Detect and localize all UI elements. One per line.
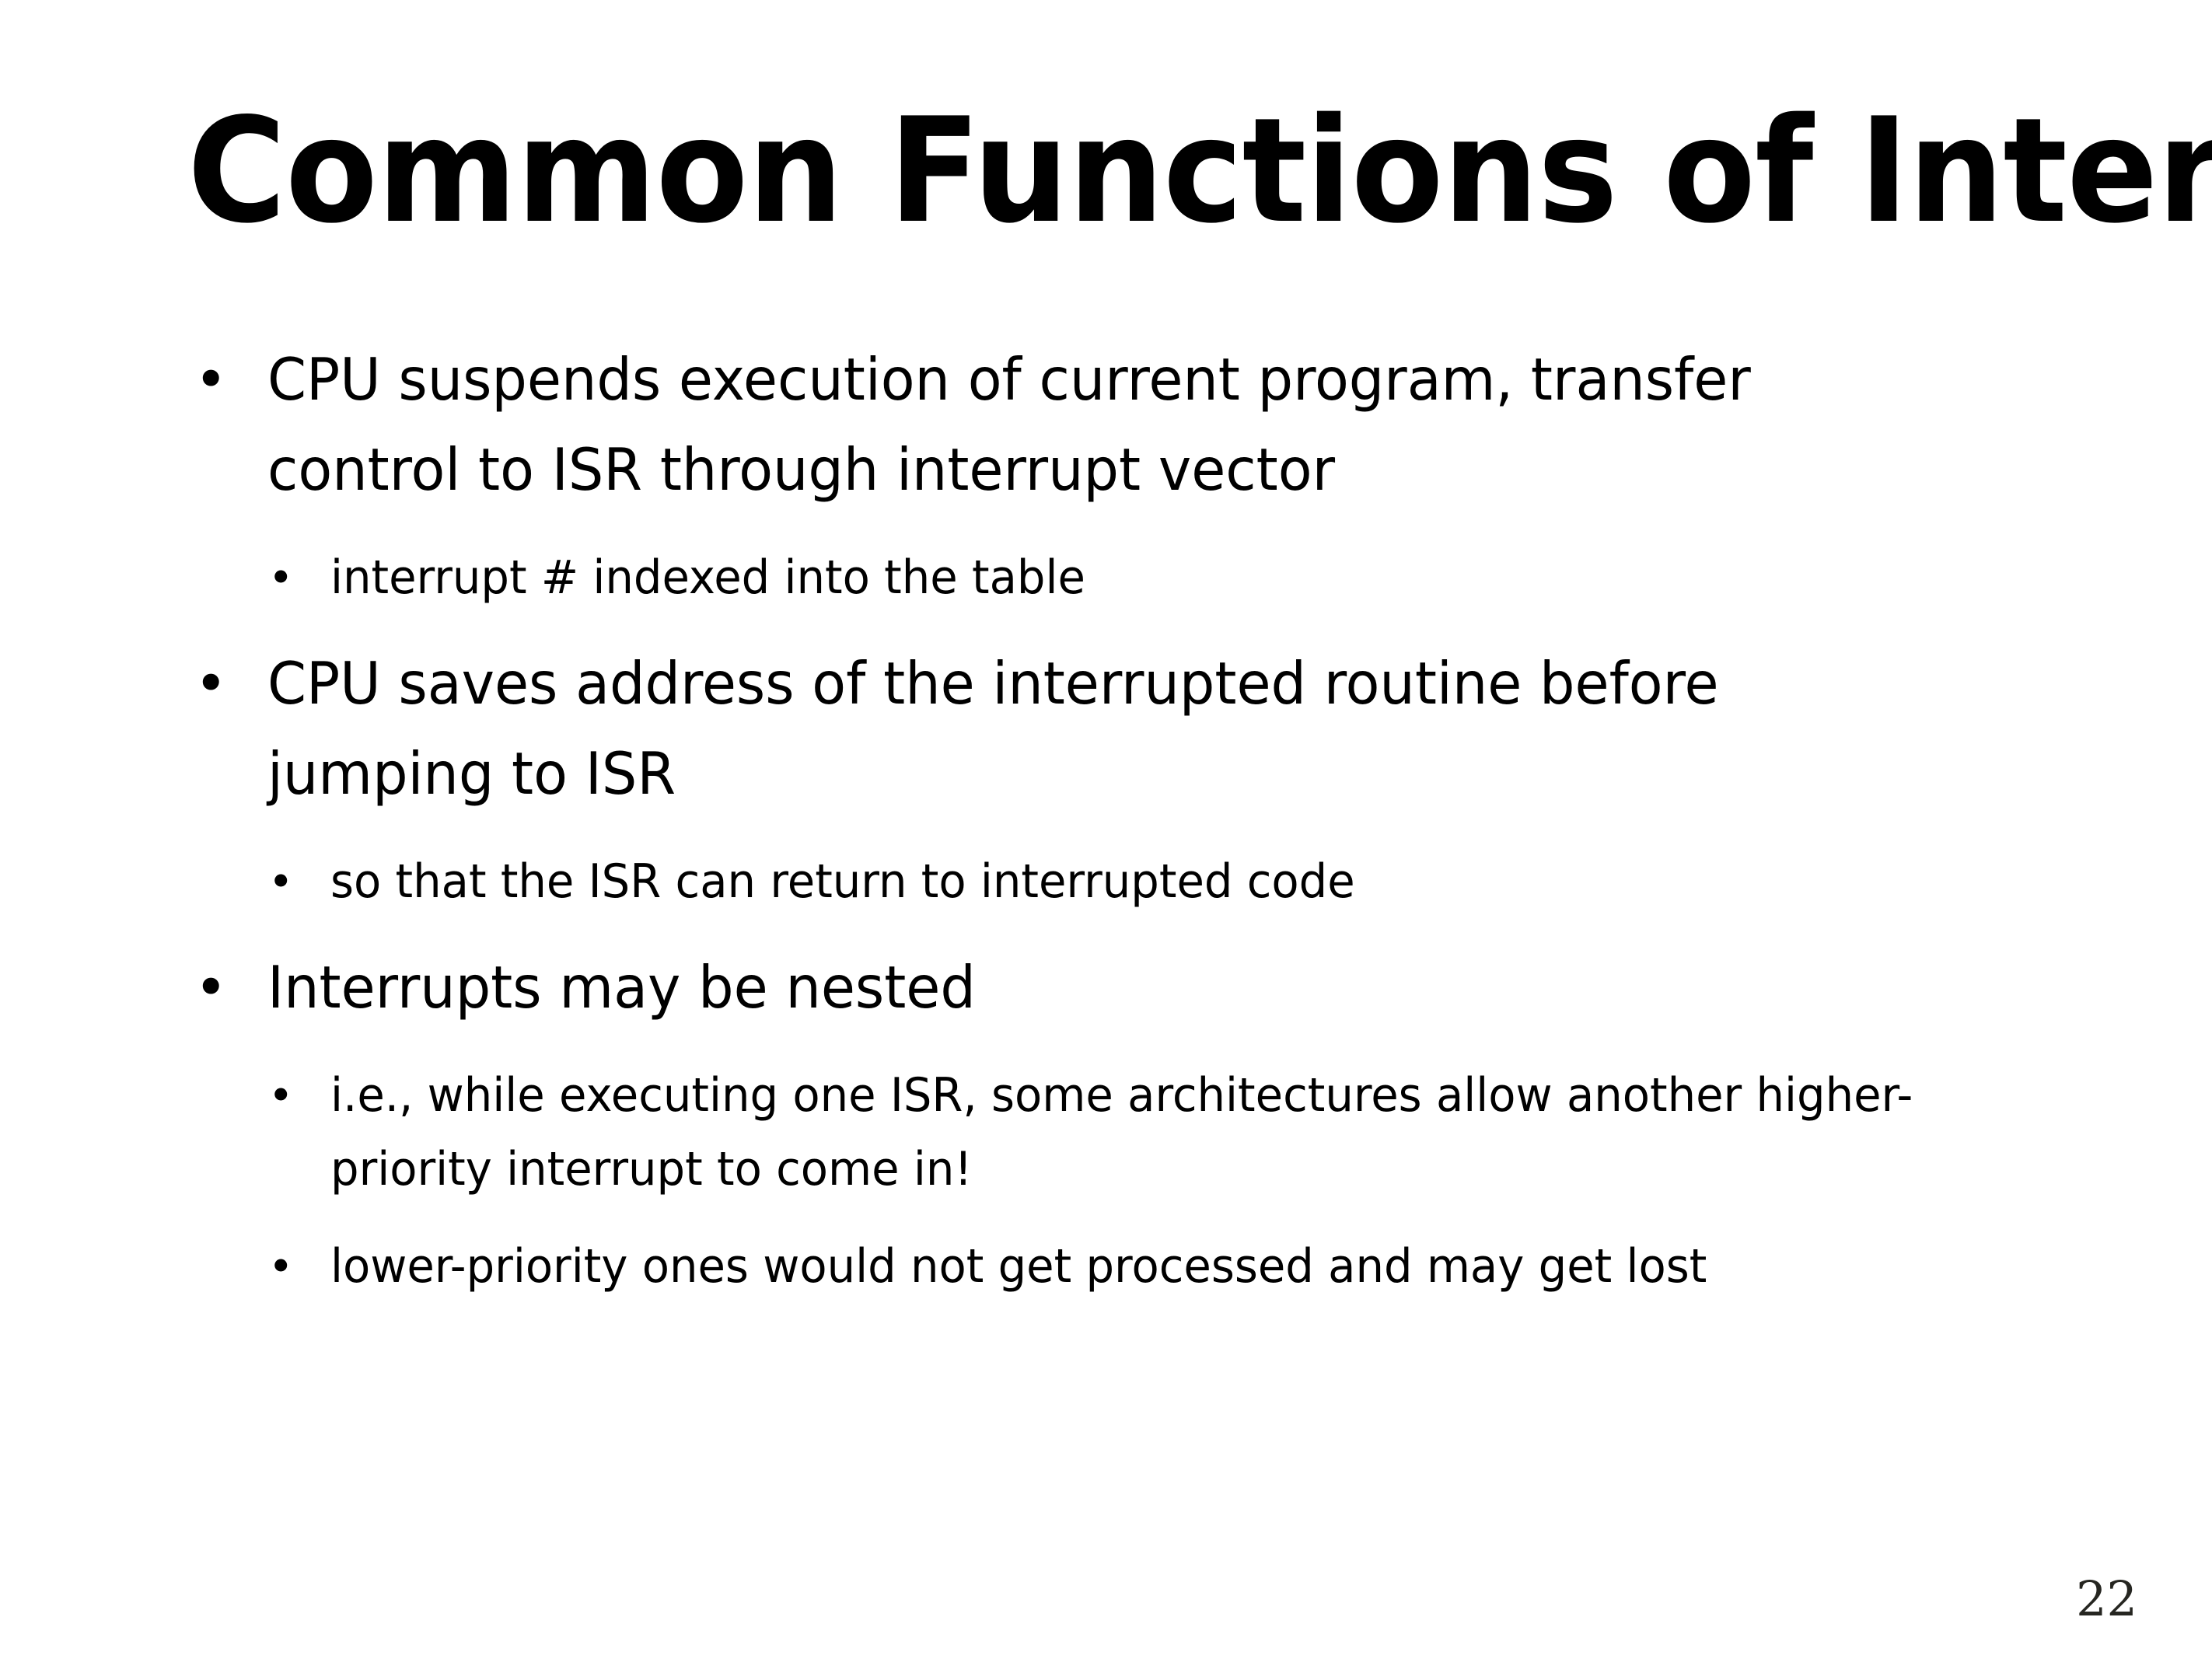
bullet-item-level1: • Interrupts may be nested <box>0 942 2212 1032</box>
bullet-item-label: interrupt # indexed into the table <box>330 541 2025 615</box>
bullet-item-level2: • so that the ISR can return to interrup… <box>0 845 2212 919</box>
bullet-item-label: so that the ISR can return to interrupte… <box>330 845 2025 919</box>
bullet-item-label: lower-priority ones would not get proces… <box>330 1230 2025 1304</box>
bullet-item-label: CPU saves address of the interrupted rou… <box>267 638 1953 819</box>
bullet-point-icon: • <box>268 1230 330 1304</box>
bullet-item-level2: • i.e., while executing one ISR, some ar… <box>0 1059 2212 1207</box>
bullet-item-level2: • lower-priority ones would not get proc… <box>0 1230 2212 1304</box>
bullet-item-label: i.e., while executing one ISR, some arch… <box>330 1059 2025 1207</box>
slide-page-number: 22 <box>2076 1572 2137 1626</box>
bullet-item-level1: • CPU suspends execution of current prog… <box>0 334 2212 515</box>
bullet-item-label: Interrupts may be nested <box>267 942 1953 1032</box>
bullet-item-level2: • interrupt # indexed into the table <box>0 541 2212 615</box>
bullet-item-label: CPU suspends execution of current progra… <box>267 334 1953 515</box>
bullet-point-icon: • <box>194 638 267 728</box>
bullet-point-icon: • <box>268 1059 330 1133</box>
bullet-point-icon: • <box>268 541 330 615</box>
bullet-item-level1: • CPU saves address of the interrupted r… <box>0 638 2212 819</box>
slide-canvas: Common Functions of Interrupts • CPU sus… <box>0 0 2212 1659</box>
bullet-point-icon: • <box>194 334 267 424</box>
slide-body-list: • CPU suspends execution of current prog… <box>0 334 2212 1327</box>
bullet-point-icon: • <box>194 942 267 1032</box>
page-title: Common Functions of Interrupts <box>187 93 2067 257</box>
bullet-point-icon: • <box>268 845 330 919</box>
